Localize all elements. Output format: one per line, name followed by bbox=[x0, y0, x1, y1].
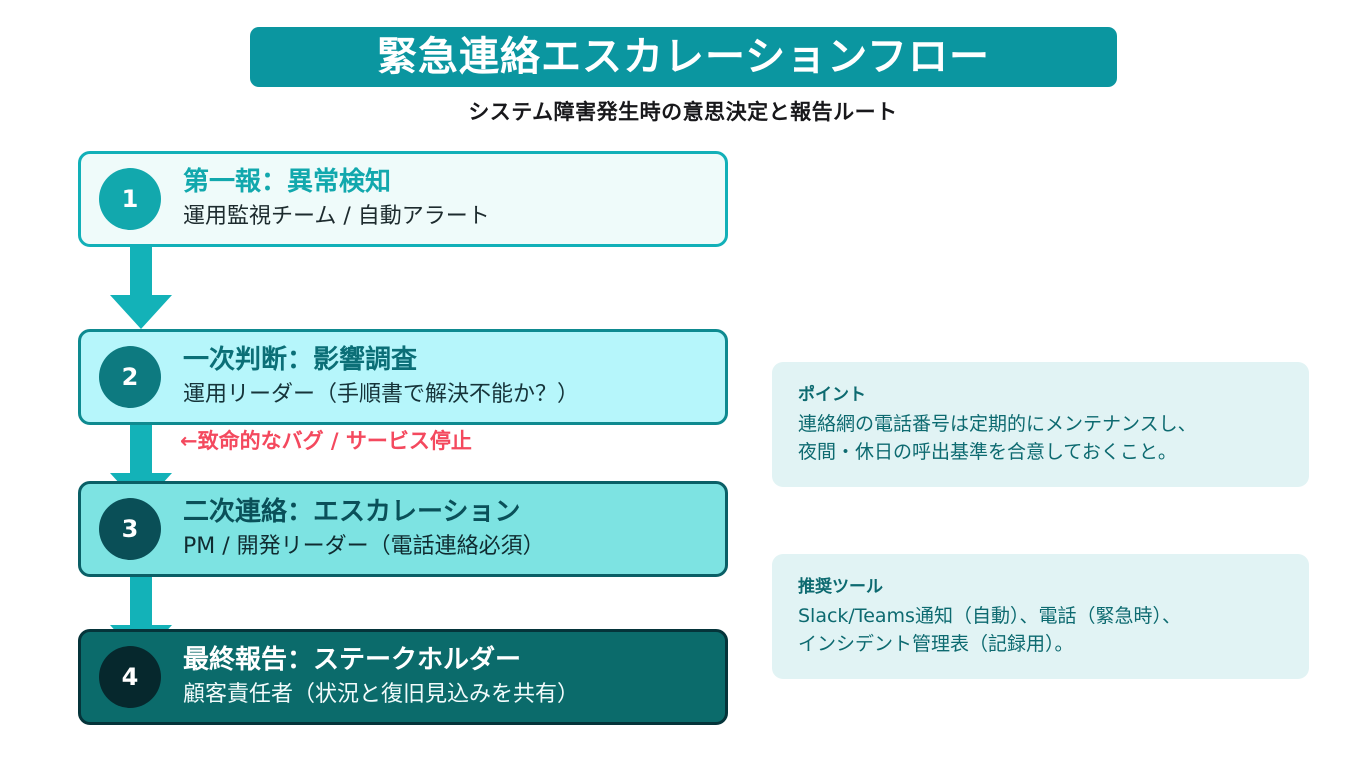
flow-branch-condition-label: ←致命的なバグ / サービス停止 bbox=[180, 431, 472, 452]
step-4-number-badge: 4 bbox=[99, 646, 161, 708]
flow-step-3[interactable]: 3 二次連絡：エスカレーション PM / 開発リーダー（電話連絡必須） bbox=[78, 481, 728, 577]
step-2-number-badge: 2 bbox=[99, 346, 161, 408]
step-3-title: 二次連絡：エスカレーション bbox=[183, 497, 545, 529]
step-1-subtitle: 運用監視チーム / 自動アラート bbox=[183, 203, 490, 232]
step-2-subtitle: 運用リーダー（手順書で解決不能か？） bbox=[183, 381, 579, 410]
note-point-body: 連絡網の電話番号は定期的にメンテナンスし、 夜間・休日の呼出基準を合意しておくこ… bbox=[798, 410, 1283, 467]
step-1-title: 第一報：異常検知 bbox=[183, 167, 490, 199]
note-card-point: ポイント 連絡網の電話番号は定期的にメンテナンスし、 夜間・休日の呼出基準を合意… bbox=[772, 362, 1309, 487]
page-subtitle: システム障害発生時の意思決定と報告ルート bbox=[0, 96, 1366, 126]
note-tools-title: 推奨ツール bbox=[798, 576, 1283, 600]
step-1-number-badge: 1 bbox=[99, 168, 161, 230]
flow-step-1[interactable]: 1 第一報：異常検知 運用監視チーム / 自動アラート bbox=[78, 151, 728, 247]
note-point-title: ポイント bbox=[798, 384, 1283, 408]
step-3-number-badge: 3 bbox=[99, 498, 161, 560]
step-4-subtitle: 顧客責任者（状況と復旧見込みを共有） bbox=[183, 681, 579, 710]
flow-arrow-1-to-2 bbox=[110, 247, 172, 329]
page-title-banner: 緊急連絡エスカレーションフロー bbox=[250, 27, 1117, 87]
flow-step-2[interactable]: 2 一次判断：影響調査 運用リーダー（手順書で解決不能か？） bbox=[78, 329, 728, 425]
step-2-title: 一次判断：影響調査 bbox=[183, 345, 579, 377]
step-3-subtitle: PM / 開発リーダー（電話連絡必須） bbox=[183, 533, 545, 562]
note-card-tools: 推奨ツール Slack/Teams通知（自動）、電話（緊急時）、 インシデント管… bbox=[772, 554, 1309, 679]
flow-step-4[interactable]: 4 最終報告：ステークホルダー 顧客責任者（状況と復旧見込みを共有） bbox=[78, 629, 728, 725]
step-4-title: 最終報告：ステークホルダー bbox=[183, 645, 579, 677]
page-title: 緊急連絡エスカレーションフロー bbox=[377, 37, 990, 77]
note-tools-body: Slack/Teams通知（自動）、電話（緊急時）、 インシデント管理表（記録用… bbox=[798, 602, 1283, 659]
